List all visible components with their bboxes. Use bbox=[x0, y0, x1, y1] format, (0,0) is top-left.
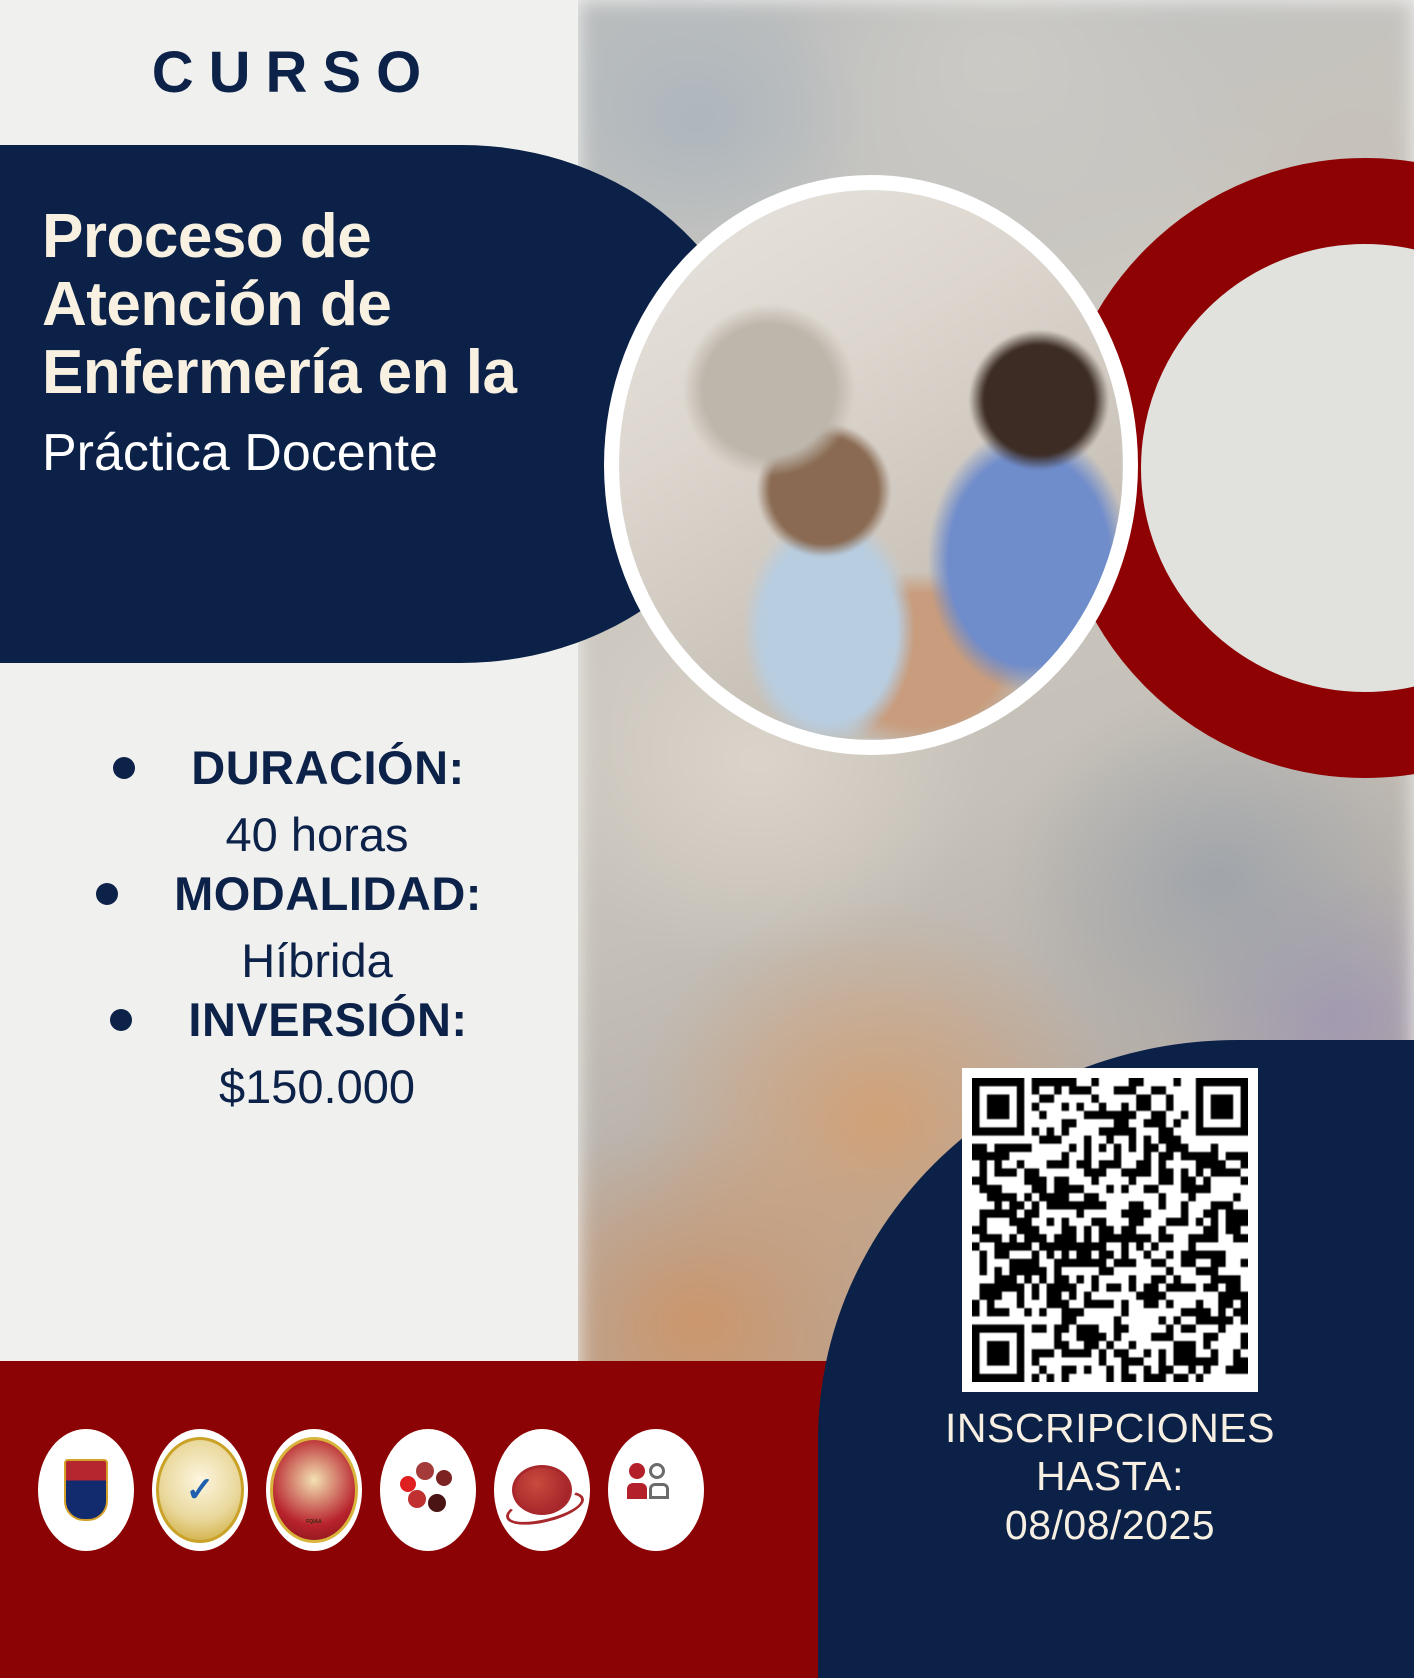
registration-deadline: INSCRIPCIONES HASTA: 08/08/2025 bbox=[940, 1404, 1280, 1549]
course-details-list: DURACIÓN: 40 horas MODALIDAD: Híbrida IN… bbox=[0, 740, 578, 1118]
list-item: DURACIÓN: 40 horas bbox=[0, 740, 578, 862]
kicker-text: CURSO bbox=[152, 39, 436, 106]
detail-label: MODALIDAD: bbox=[174, 866, 482, 921]
university-crest-icon bbox=[64, 1459, 108, 1521]
bullet-icon bbox=[96, 883, 118, 905]
registration-line-3: 08/08/2025 bbox=[940, 1501, 1280, 1549]
vicerrectoria-bienestar-extension-logo bbox=[380, 1429, 476, 1551]
course-poster: CURSO Proceso de Atención de Enfermería … bbox=[0, 0, 1414, 1678]
list-item: MODALIDAD: Híbrida bbox=[0, 866, 578, 988]
detail-label: DURACIÓN: bbox=[191, 740, 464, 795]
detail-label-row: INVERSIÓN: bbox=[0, 992, 578, 1047]
detail-label: INVERSIÓN: bbox=[188, 992, 467, 1047]
people-group-icon bbox=[400, 1462, 456, 1518]
check-icon: ✓ bbox=[186, 1473, 215, 1507]
education-people-icon bbox=[627, 1461, 685, 1519]
universidad-de-pamplona-seal bbox=[38, 1429, 134, 1551]
detail-value: Híbrida bbox=[0, 933, 578, 988]
registration-line-2: HASTA: bbox=[940, 1452, 1280, 1500]
registration-qr-code[interactable] bbox=[962, 1068, 1258, 1392]
title-inner: Proceso de Atención de Enfermería en la … bbox=[42, 203, 542, 483]
seal-label: FQIAA bbox=[266, 1519, 362, 1525]
oficina-extension-convenios-logo bbox=[494, 1429, 590, 1551]
detail-value: $150.000 bbox=[0, 1059, 578, 1114]
bullet-icon bbox=[113, 757, 135, 779]
hero-photo-image bbox=[619, 190, 1123, 740]
detail-value: 40 horas bbox=[0, 807, 578, 862]
detail-label-row: MODALIDAD: bbox=[0, 866, 578, 921]
detail-label-row: DURACIÓN: bbox=[0, 740, 578, 795]
registration-line-1: INSCRIPCIONES bbox=[940, 1404, 1280, 1452]
qr-canvas bbox=[972, 1078, 1248, 1382]
educacion-continua-logo bbox=[608, 1429, 704, 1551]
kicker-header: CURSO bbox=[0, 0, 578, 145]
hero-photo bbox=[604, 175, 1138, 755]
acreditacion-alta-calidad-seal: ✓ bbox=[152, 1429, 248, 1551]
bullet-icon bbox=[110, 1009, 132, 1031]
course-subtitle: Práctica Docente bbox=[42, 424, 542, 484]
red-gold-seal-ring bbox=[270, 1437, 358, 1543]
accreditation-logos: ✓ FQIAA bbox=[38, 1420, 778, 1560]
globe-plane-icon bbox=[512, 1465, 572, 1515]
list-item: INVERSIÓN: $150.000 bbox=[0, 992, 578, 1114]
fqiaa-internationally-accredited-seal: FQIAA bbox=[266, 1429, 362, 1551]
course-title: Proceso de Atención de Enfermería en la bbox=[42, 203, 542, 408]
